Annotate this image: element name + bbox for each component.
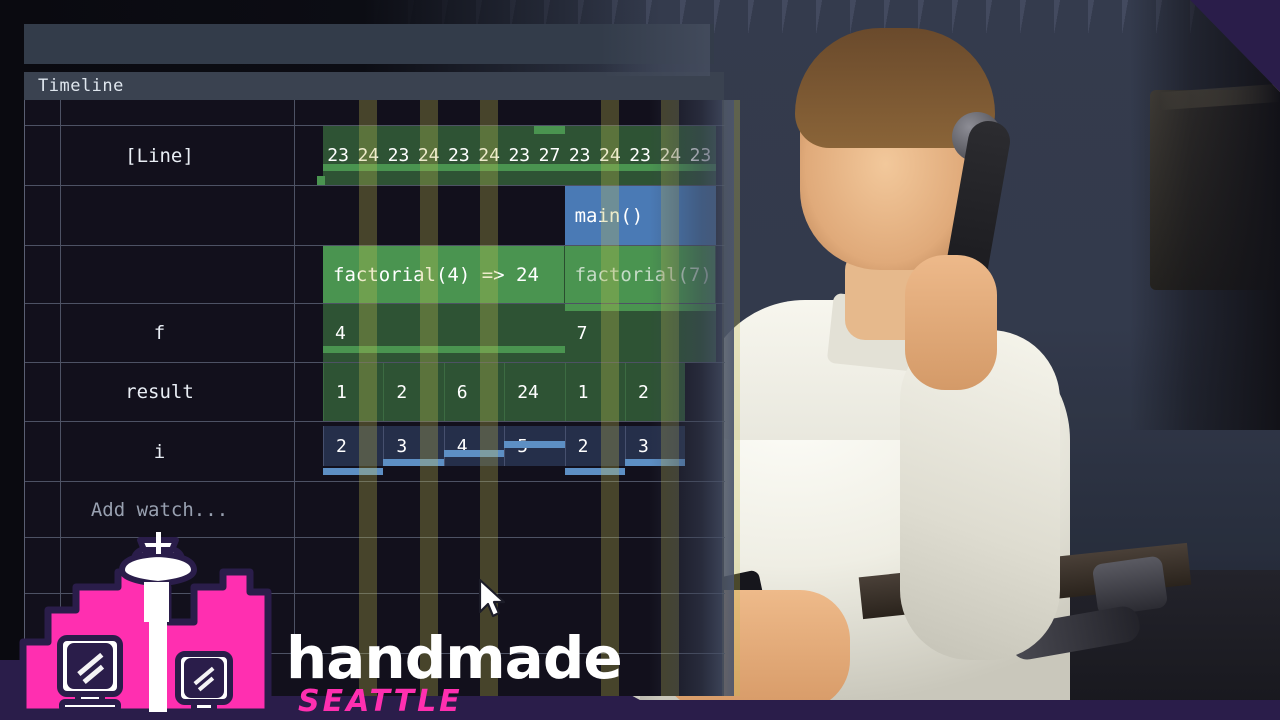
row-cells-line[interactable]: 23242324232423272324232423: [295, 126, 725, 185]
line-bar: [474, 164, 504, 171]
row-cells-result[interactable]: 1262412: [295, 363, 725, 421]
line-bar: [595, 164, 625, 171]
i-cell[interactable]: 2: [565, 426, 625, 466]
toolbar[interactable]: [24, 24, 714, 64]
gutter: [25, 363, 61, 421]
gutter: [25, 422, 61, 481]
callstack-span-factorial[interactable]: factorial(7): [565, 246, 716, 303]
speaker-right-hand: [905, 255, 997, 390]
line-cell[interactable]: 24: [474, 126, 504, 185]
row-cells-callstack-top[interactable]: main(): [295, 186, 725, 245]
arrow-cursor-icon: [478, 578, 508, 622]
row-cells-add-watch[interactable]: [295, 482, 725, 537]
video-right-shadow: [1130, 0, 1280, 430]
line-peak: [534, 126, 564, 134]
line-cell[interactable]: 23: [504, 126, 534, 185]
f-cell[interactable]: 7: [565, 304, 716, 362]
line-cell[interactable]: 24: [655, 126, 685, 185]
row-label-text: result: [125, 381, 194, 403]
line-bar: [504, 164, 534, 171]
row-label-text: i: [154, 441, 165, 463]
row-label-result: result: [25, 363, 295, 421]
line-bar: [323, 164, 353, 171]
logo-wordmark: handmade: [286, 624, 622, 692]
line-cell[interactable]: 23: [565, 126, 595, 185]
result-cell[interactable]: 1: [323, 363, 383, 421]
gutter: [25, 304, 61, 362]
f-bar: [565, 304, 716, 311]
i-bar: [565, 468, 625, 475]
timeline-row-line[interactable]: [Line] 23242324232423272324232423: [25, 126, 725, 186]
logo-subtitle: SEATTLE: [298, 684, 463, 719]
line-bar: [444, 164, 474, 171]
row-label-callstack-frame: [25, 246, 295, 303]
timeline-row-f[interactable]: f 47: [25, 304, 725, 363]
gutter: [25, 482, 61, 537]
row-label-line: [Line]: [25, 126, 295, 185]
row-label-f: f: [25, 304, 295, 362]
line-start-nub: [317, 176, 325, 185]
line-cell[interactable]: 23: [323, 126, 353, 185]
gutter: [25, 100, 61, 125]
line-bar: [353, 164, 383, 171]
result-cell[interactable]: 2: [625, 363, 685, 421]
timeline-row-add-watch[interactable]: Add watch...: [25, 482, 725, 538]
result-cell[interactable]: 1: [565, 363, 625, 421]
line-bar: [625, 164, 655, 171]
timeline-row-i[interactable]: i 234523: [25, 422, 725, 482]
ruler-label-cell: [25, 100, 295, 125]
line-cell[interactable]: 23: [685, 126, 715, 185]
result-cell[interactable]: 6: [444, 363, 504, 421]
timeline-row-callstack-top[interactable]: main(): [25, 186, 725, 246]
f-cell[interactable]: 4: [323, 304, 565, 362]
i-bar: [444, 450, 504, 457]
row-label-text: f: [154, 322, 165, 344]
i-bar: [383, 459, 443, 466]
row-cells-f[interactable]: 47: [295, 304, 725, 362]
row-label-callstack-top: [25, 186, 295, 245]
line-cell[interactable]: 24: [353, 126, 383, 185]
line-bar: [534, 164, 564, 171]
gutter: [25, 246, 61, 303]
row-label-i: i: [25, 422, 295, 481]
timeline-row-result[interactable]: result 1262412: [25, 363, 725, 422]
line-cell[interactable]: 23: [444, 126, 474, 185]
row-label-text: [Line]: [125, 145, 194, 167]
line-cell[interactable]: 27: [534, 126, 564, 185]
line-bar: [383, 164, 413, 171]
i-bar: [323, 468, 383, 475]
line-bar: [655, 164, 685, 171]
screen: Timeline |000...|008...|016...|024...|03…: [0, 0, 1280, 720]
gutter: [25, 186, 61, 245]
timeline-header: Timeline: [24, 72, 724, 100]
line-cell[interactable]: 23: [383, 126, 413, 185]
line-bar: [685, 164, 715, 171]
gutter: [25, 126, 61, 185]
i-cell[interactable]: 2: [323, 426, 383, 466]
i-bar: [625, 459, 685, 466]
add-watch-button[interactable]: Add watch...: [25, 482, 295, 537]
callstack-span-main[interactable]: main(): [565, 186, 716, 245]
row-cells-i[interactable]: 234523: [295, 422, 725, 481]
i-bar: [504, 441, 564, 448]
timeline-ruler-row: |000...|008...|016...|024...|032...|040.…: [25, 100, 725, 126]
add-watch-label: Add watch...: [91, 499, 228, 521]
i-cell[interactable]: 4: [444, 426, 504, 466]
line-cell[interactable]: 23: [625, 126, 655, 185]
line-bar: [565, 164, 595, 171]
timeline-row-callstack-frame[interactable]: factorial(4) => 24factorial(7): [25, 246, 725, 304]
ruler-ticks[interactable]: |000...|008...|016...|024...|032...|040.…: [295, 100, 725, 125]
result-cell[interactable]: 24: [504, 363, 564, 421]
f-bar: [323, 346, 565, 353]
callstack-span-factorial[interactable]: factorial(4) => 24: [323, 246, 565, 303]
handmade-seattle-logo: handmade SEATTLE: [18, 532, 618, 712]
line-bar: [414, 164, 444, 171]
row-cells-callstack-frame[interactable]: factorial(4) => 24factorial(7): [295, 246, 725, 303]
result-cell[interactable]: 2: [383, 363, 443, 421]
line-cell[interactable]: 24: [595, 126, 625, 185]
line-cell[interactable]: 24: [414, 126, 444, 185]
